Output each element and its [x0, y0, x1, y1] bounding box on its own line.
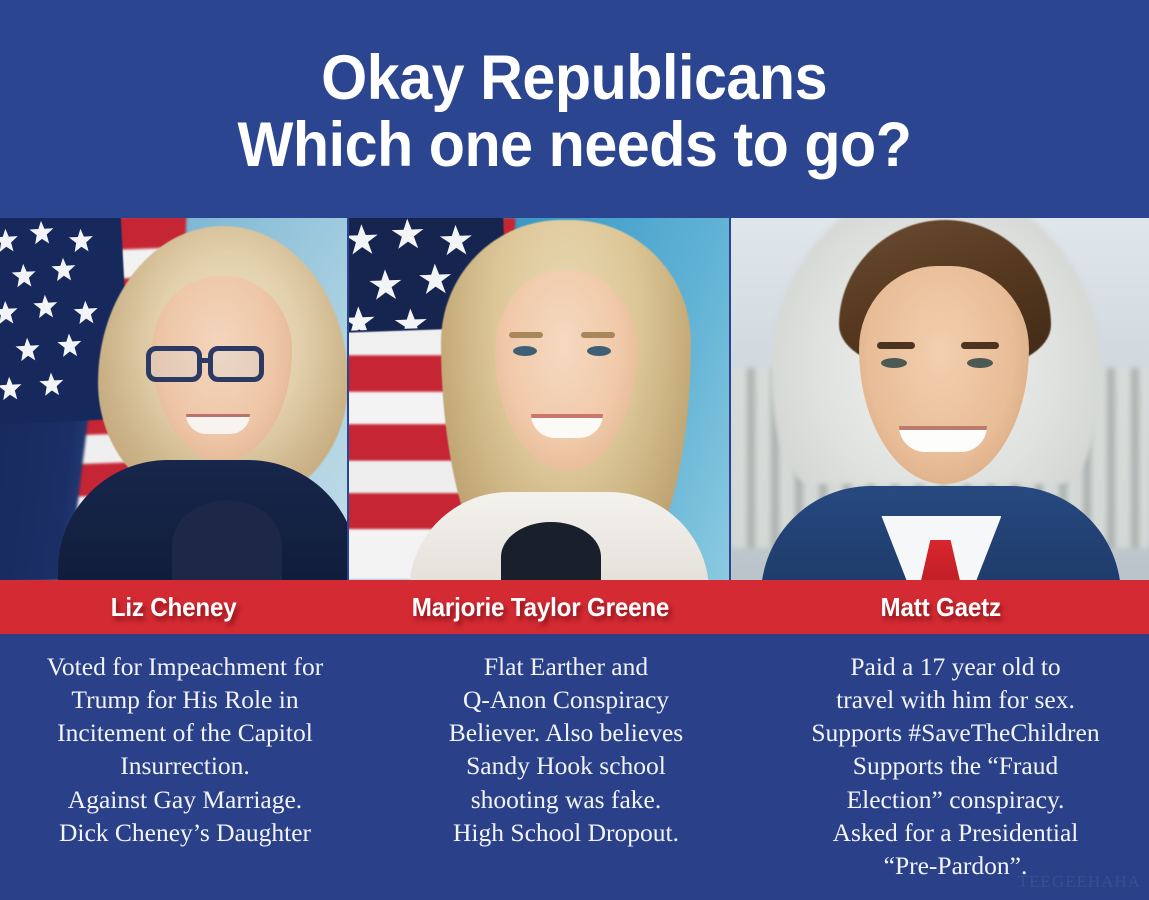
smile-1 [186, 414, 250, 434]
portrait-strip [0, 218, 1149, 580]
portrait-matt-gaetz [731, 218, 1149, 580]
description-liz-cheney: Voted for Impeachment for Trump for His … [0, 650, 370, 900]
header-banner: Okay Republicans Which one needs to go? [0, 0, 1149, 218]
eyeglasses-bridge-icon [200, 358, 210, 363]
name-banner: Liz Cheney Marjorie Taylor Greene Matt G… [0, 580, 1149, 634]
watermark: TEEGEEHAHA [1018, 872, 1141, 892]
name-cell-marjorie-taylor-greene: Marjorie Taylor Greene [348, 580, 732, 634]
name-label-marjorie-taylor-greene: Marjorie Taylor Greene [411, 592, 669, 623]
eyebrow-right-3 [961, 342, 999, 349]
eyeglasses-left-lens-icon [146, 346, 202, 382]
top-1 [172, 500, 282, 580]
name-cell-liz-cheney: Liz Cheney [0, 580, 348, 634]
smile-3 [899, 426, 987, 452]
name-cell-matt-gaetz: Matt Gaetz [732, 580, 1149, 634]
description-marjorie-taylor-greene: Flat Earther and Q-Anon Conspiracy Belie… [370, 650, 762, 900]
eye-right-2 [587, 346, 611, 356]
name-label-liz-cheney: Liz Cheney [111, 592, 237, 623]
description-strip: Voted for Impeachment for Trump for His … [0, 634, 1149, 900]
eyebrow-left-3 [877, 342, 915, 349]
header-line-2: Which one needs to go? [238, 112, 912, 179]
header-line-1: Okay Republicans [322, 45, 828, 112]
description-matt-gaetz: Paid a 17 year old to travel with him fo… [762, 650, 1149, 900]
portrait-marjorie-taylor-greene [349, 218, 730, 580]
eyeglasses-right-lens-icon [208, 346, 264, 382]
meme-image: Okay Republicans Which one needs to go? [0, 0, 1149, 900]
name-label-matt-gaetz: Matt Gaetz [880, 592, 1000, 623]
eye-left-2 [513, 346, 537, 356]
portrait-liz-cheney [0, 218, 347, 580]
eyebrow-right-2 [581, 332, 615, 338]
eyebrow-left-2 [509, 332, 543, 338]
